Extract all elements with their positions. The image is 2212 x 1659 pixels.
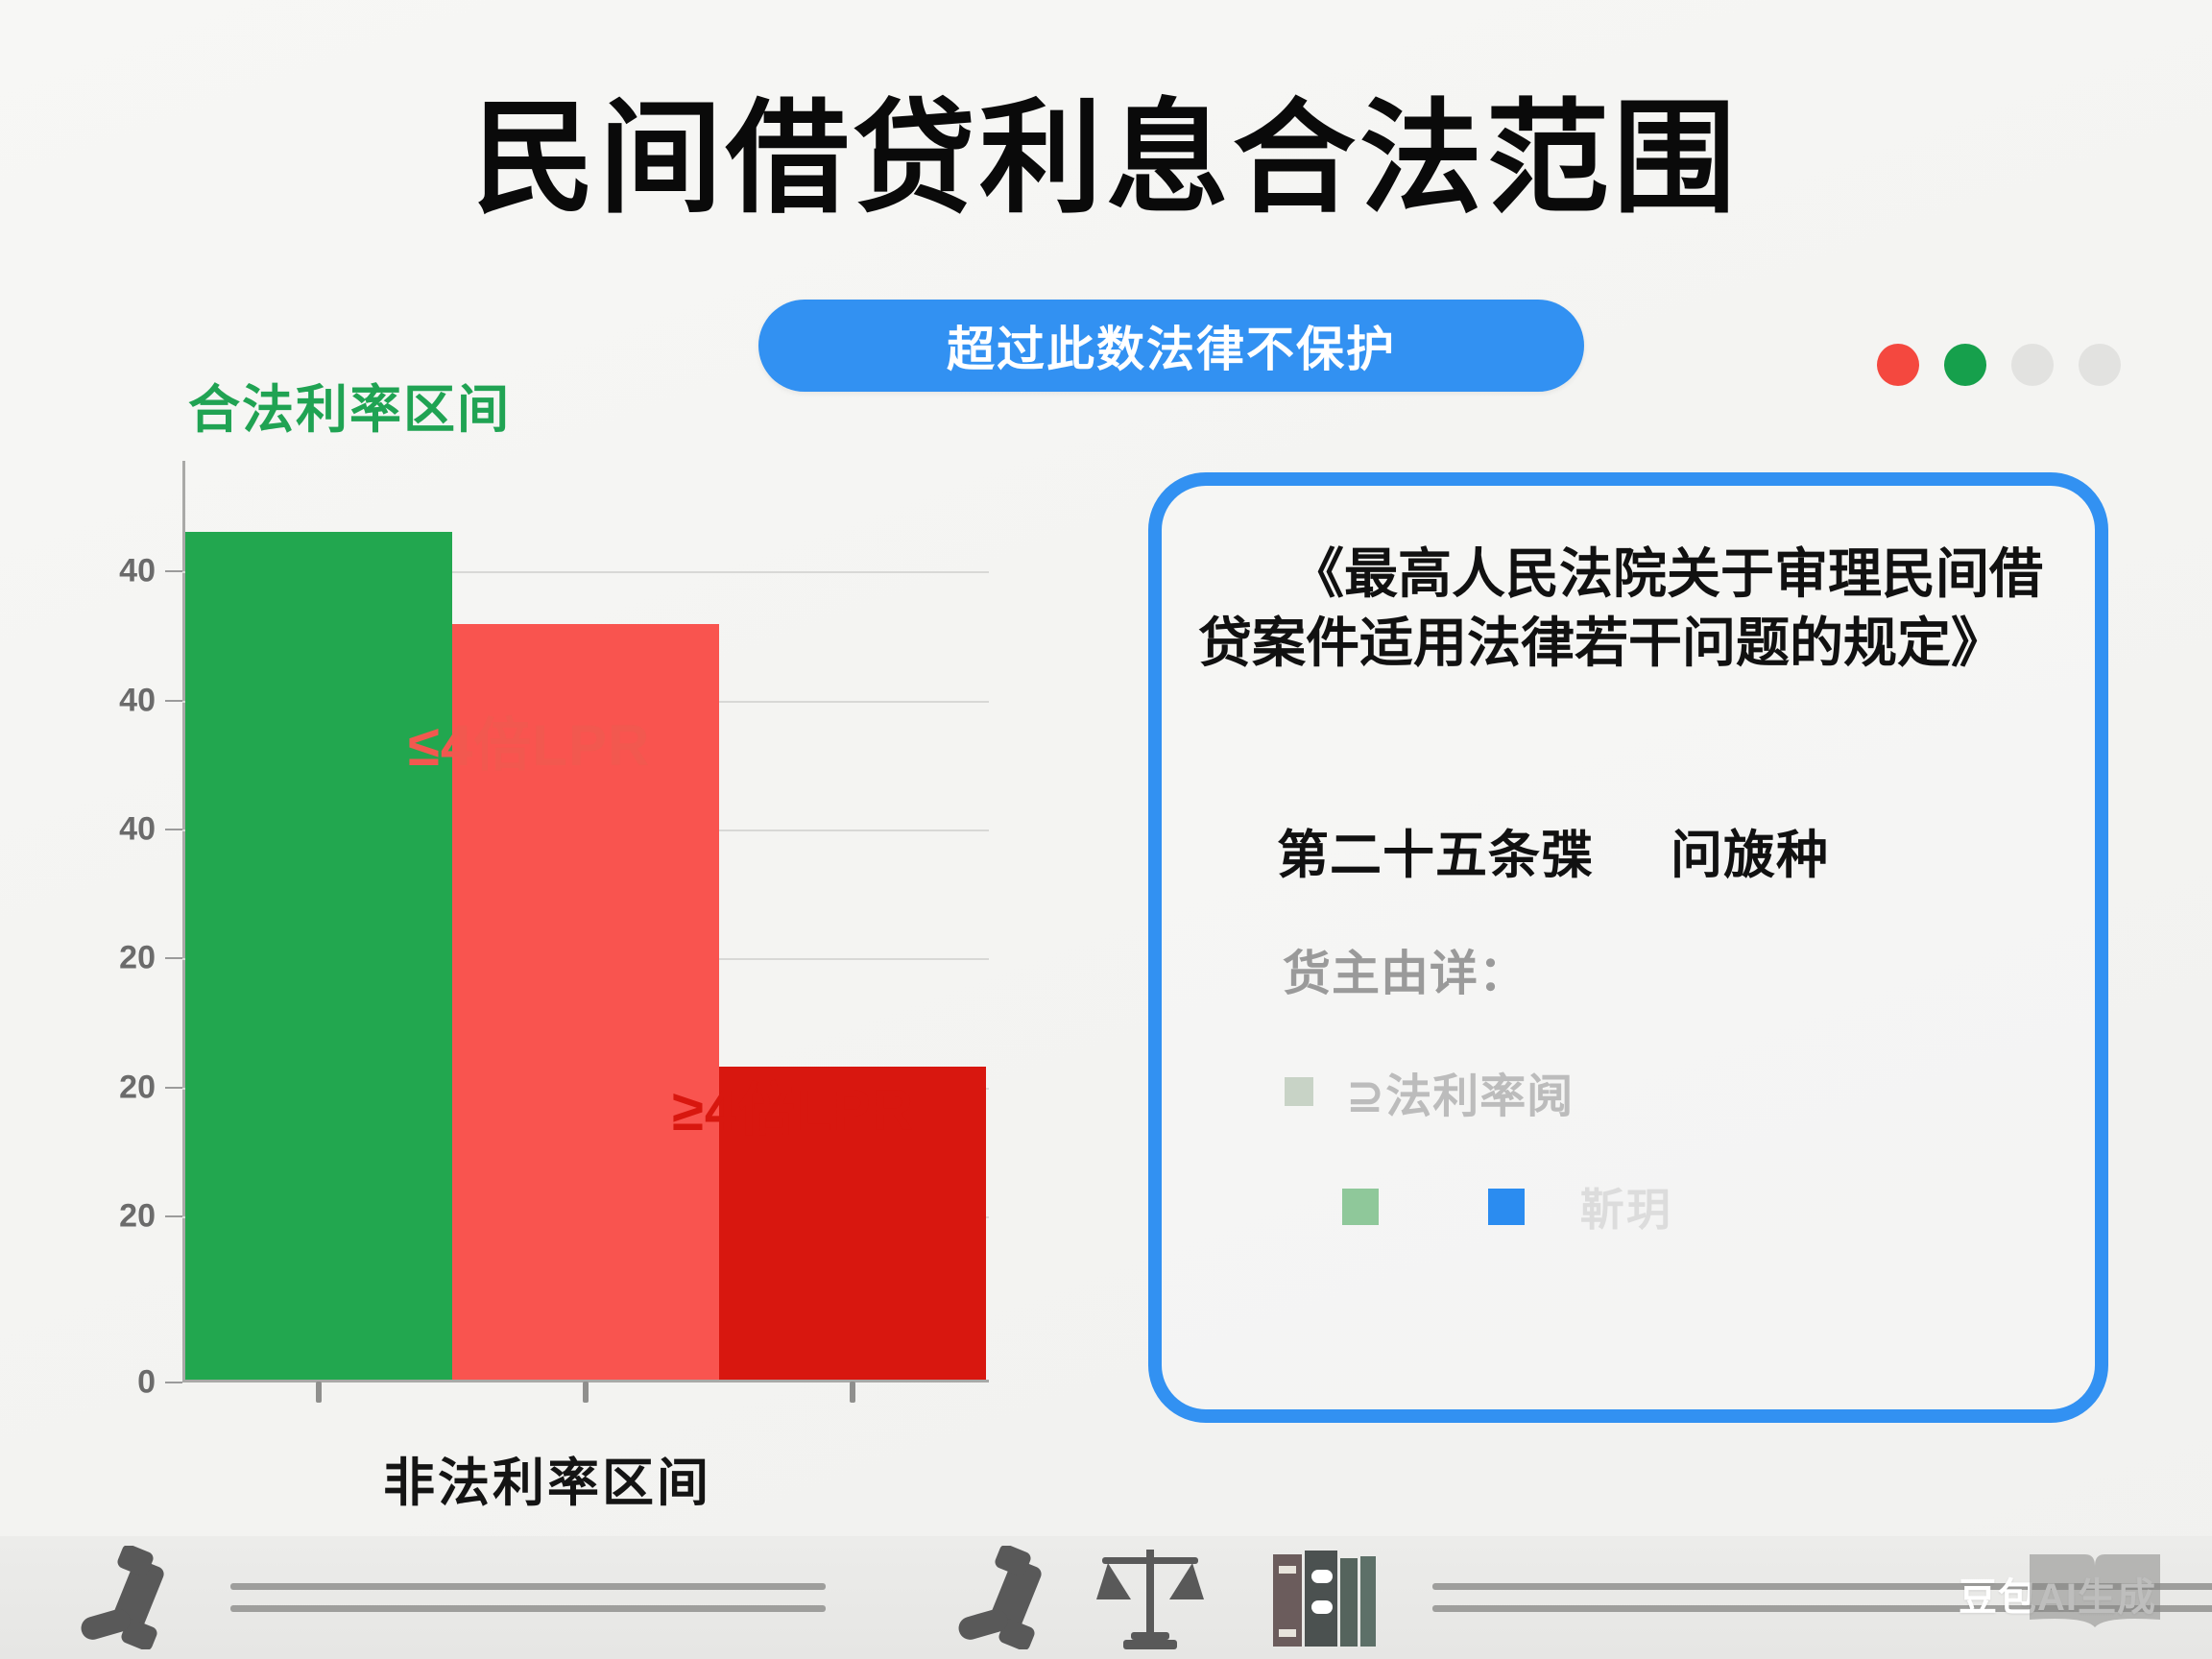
regulation-bullet-item: ⊇法利率阋 <box>1285 1058 1574 1125</box>
status-dots <box>1877 344 2121 386</box>
regulation-title: 《最高人民法院关于审理民间借贷案件适用法律若干问题的规定》 <box>1198 540 2085 677</box>
scales-icon <box>1093 1544 1208 1651</box>
bar-1 <box>185 532 452 1380</box>
y-tick-mark <box>165 1382 182 1383</box>
footer-bar: 豆包AI生成 <box>0 1536 2212 1659</box>
subtitle-pill-label: 超过此数法律不保护 <box>947 311 1396 380</box>
regulation-clause: 第二十五条弽 问旇种 <box>1277 812 1829 888</box>
chart-title-legal-range: 合法利率区间 <box>188 367 511 443</box>
card-legend: 靳玥 <box>1342 1175 1672 1238</box>
books-icon <box>1265 1547 1390 1648</box>
y-tick-label: 40 <box>119 682 156 719</box>
open-book-icon <box>2022 1545 2168 1642</box>
plot-area: 4040402020200 <box>182 461 989 1382</box>
y-tick-label: 20 <box>119 940 156 977</box>
y-tick-label: 40 <box>119 553 156 590</box>
poster-canvas: 民间借贷利息合法范围 超过此数法律不保护 合法利率区间 404040202020… <box>0 0 2212 1659</box>
y-tick-label: 40 <box>119 811 156 849</box>
card-legend-label: 靳玥 <box>1580 1175 1672 1238</box>
regulation-bullet-text: ⊇法利率阋 <box>1346 1058 1574 1125</box>
bar-annotation-2: ≥4倍LPR <box>672 1064 914 1147</box>
x-tick-mark <box>850 1382 855 1403</box>
y-tick-mark <box>165 700 182 702</box>
page-title: 民间借贷利息合法范围 <box>0 92 2212 228</box>
x-axis-label: 非法利率区间 <box>106 1440 989 1516</box>
legend-swatch-green <box>1342 1189 1379 1225</box>
y-tick-mark <box>165 570 182 572</box>
y-tick-label: 20 <box>119 1069 156 1106</box>
bar-chart: 4040402020200 <box>106 461 989 1421</box>
y-tick-mark <box>165 1087 182 1089</box>
gavel-icon <box>75 1546 188 1649</box>
dot-red <box>1877 344 1919 386</box>
x-tick-mark <box>583 1382 589 1403</box>
bar-annotation-1: ≤4倍LPR <box>408 699 650 782</box>
dot-gray-1 <box>2011 344 2054 386</box>
gavel-icon <box>952 1546 1066 1649</box>
y-tick-mark <box>165 957 182 959</box>
x-tick-mark <box>316 1382 322 1403</box>
bullet-square-icon <box>1285 1077 1313 1106</box>
y-tick-label: 0 <box>137 1364 156 1402</box>
footer-rule-left <box>230 1583 826 1612</box>
watermark: 豆包AI生成 <box>1959 1545 2168 1642</box>
y-tick-label: 20 <box>119 1198 156 1236</box>
subtitle-pill: 超过此数法律不保护 <box>758 300 1584 392</box>
bars-group <box>185 461 989 1380</box>
dot-gray-2 <box>2079 344 2121 386</box>
y-tick-mark <box>165 1215 182 1217</box>
y-tick-mark <box>165 829 182 830</box>
dot-green <box>1944 344 1986 386</box>
regulation-subheading: 货主由详： <box>1283 935 1527 1004</box>
legend-swatch-blue <box>1488 1189 1525 1225</box>
regulation-card: 《最高人民法院关于审理民间借贷案件适用法律若干问题的规定》 第二十五条弽 问旇种… <box>1148 472 2108 1423</box>
